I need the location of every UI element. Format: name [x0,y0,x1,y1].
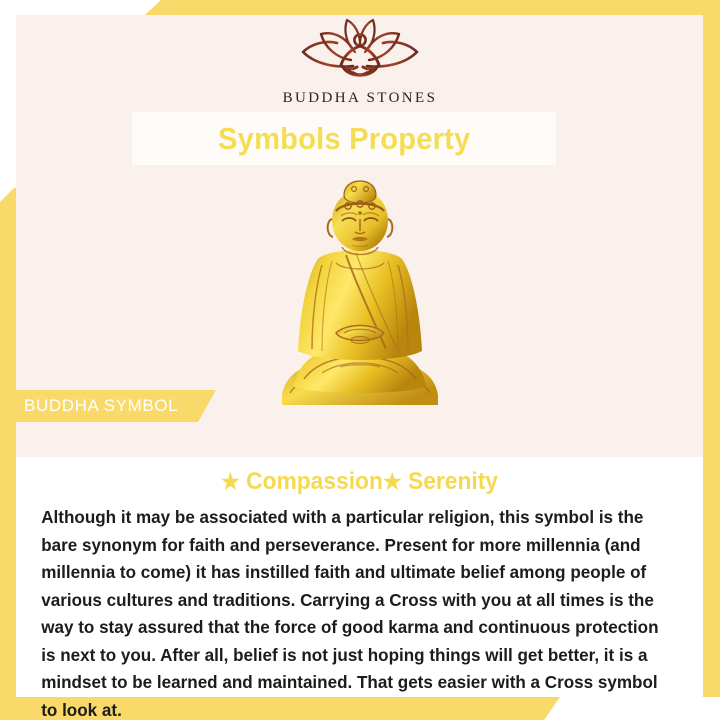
status-badge-label: BUDDHA SYMBOL [24,396,178,416]
star-icon-1: ★ [221,469,240,494]
headline-word-serenity: Serenity [408,468,498,495]
content-panel: ★ Compassion★ Serenity Although it may b… [16,457,703,697]
poster-root: BUDDHA STONES Symbols Property [0,0,720,720]
title-plate: Symbols Property [132,112,556,165]
headline-word-compassion: Compassion [246,468,383,495]
golden-seated-buddha-statue-icon [260,173,460,405]
page-title: Symbols Property [218,121,470,157]
brand-logo: BUDDHA STONES [0,10,720,107]
hero-image [0,170,720,405]
star-icon-2: ★ [383,469,402,494]
content-body-text: Although it may be associated with a par… [16,496,682,720]
lotus-meditation-figure-icon [291,10,429,88]
content-headline: ★ Compassion★ Serenity [33,457,686,496]
brand-wordmark: BUDDHA STONES [283,90,438,107]
status-badge: BUDDHA SYMBOL [0,390,216,422]
